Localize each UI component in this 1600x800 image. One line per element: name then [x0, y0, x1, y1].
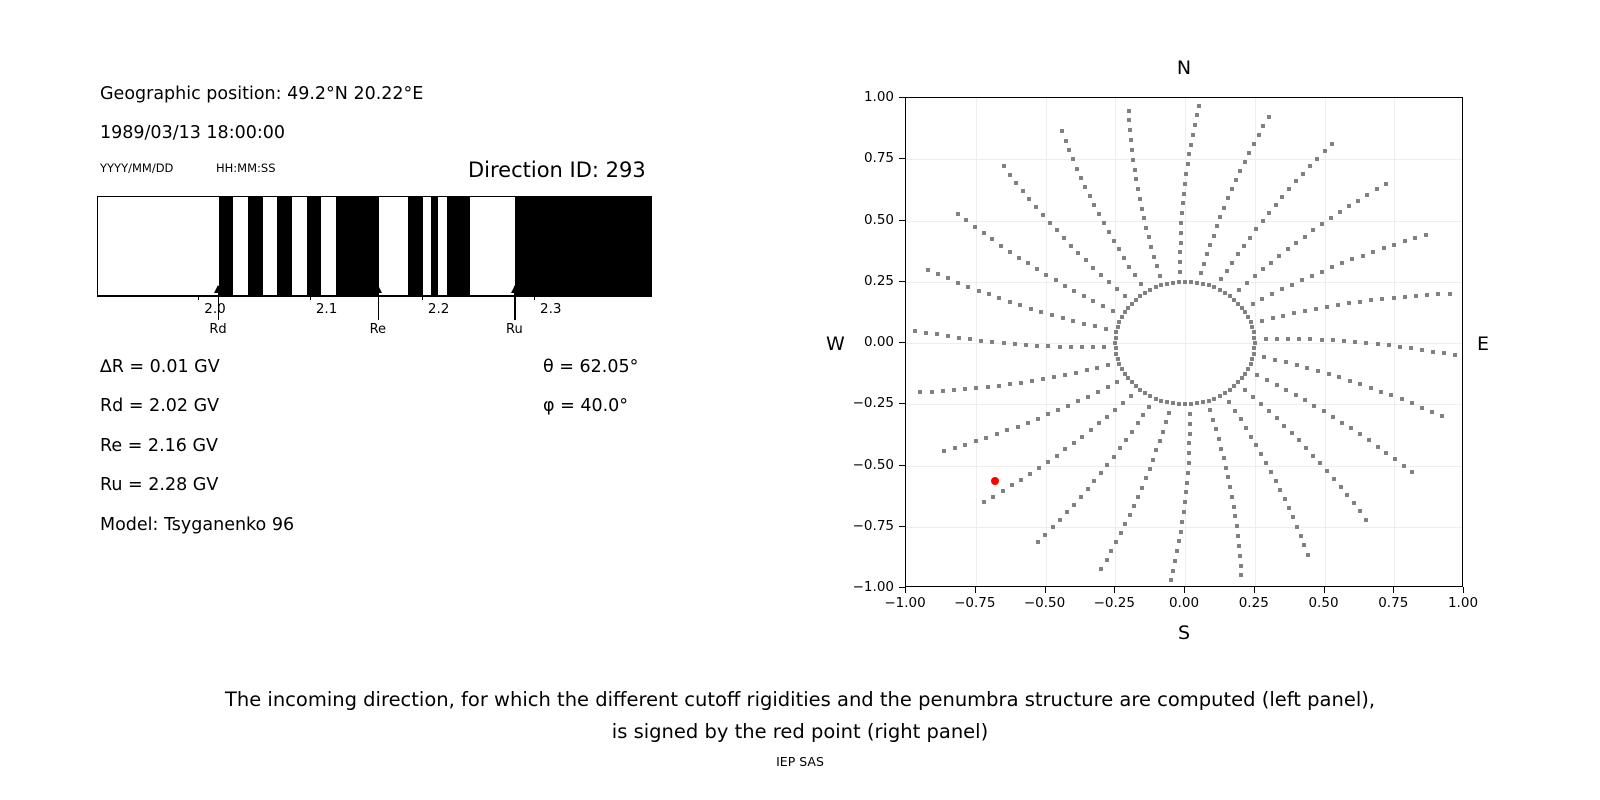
y-axis-tick [899, 281, 905, 282]
direction-point [1144, 476, 1148, 480]
rigidity-marker-label: Re [370, 322, 386, 337]
direction-point [1384, 451, 1388, 455]
direction-point [1448, 292, 1452, 296]
direction-point [1183, 182, 1187, 186]
direction-point [995, 432, 999, 436]
direction-point [1034, 205, 1038, 209]
direction-point [1255, 373, 1259, 377]
direction-point [1352, 501, 1356, 505]
direction-point [1403, 295, 1407, 299]
rigidity-marker-label: Rd [209, 322, 226, 337]
time-format-hint: HH:MM:SS [216, 161, 276, 175]
direction-point [1252, 346, 1256, 350]
direction-point [1041, 213, 1045, 217]
direction-point [1301, 172, 1305, 176]
direction-point [1226, 196, 1230, 200]
direction-point [1356, 199, 1360, 203]
direction-point [1274, 203, 1278, 207]
direction-point [1188, 422, 1192, 426]
direction-point [1123, 294, 1127, 298]
direction-point [1199, 271, 1203, 275]
direction-point [1181, 201, 1185, 205]
direction-point [1126, 376, 1130, 380]
penumbra-band [408, 197, 423, 295]
direction-point [1282, 424, 1286, 428]
direction-point [1304, 446, 1308, 450]
y-axis-tick [899, 158, 905, 159]
penumbra-structure-bar [97, 196, 652, 296]
gridline-vertical [976, 98, 977, 586]
direction-point [1299, 534, 1303, 538]
direction-point [1369, 386, 1373, 390]
direction-point [1338, 210, 1342, 214]
direction-point [1178, 250, 1182, 254]
direction-point [913, 329, 917, 333]
direction-point [1244, 426, 1248, 430]
direction-point [1280, 195, 1284, 199]
direction-point [1083, 185, 1087, 189]
direction-point [1306, 553, 1310, 557]
direction-point [935, 332, 939, 336]
direction-point [1217, 437, 1221, 441]
direction-point [1107, 280, 1111, 284]
direction-point [1303, 309, 1307, 313]
direction-point [1069, 345, 1073, 349]
figure-caption: The incoming direction, for which the di… [0, 684, 1600, 748]
direction-point [1392, 243, 1396, 247]
direction-point [1111, 309, 1115, 313]
direction-point [1278, 488, 1282, 492]
direction-point [1043, 533, 1047, 537]
direction-point [1207, 399, 1211, 403]
direction-point [1329, 216, 1333, 220]
direction-point [1127, 265, 1131, 269]
direction-point [1371, 250, 1375, 254]
direction-point [1123, 372, 1127, 376]
direction-point [1410, 470, 1414, 474]
direction-point [1183, 500, 1187, 504]
direction-point [1187, 152, 1191, 156]
direction-point [1118, 446, 1122, 450]
direction-point [1154, 397, 1158, 401]
x-axis-tick [905, 587, 906, 593]
direction-point [1235, 524, 1239, 528]
direction-point [1252, 336, 1256, 340]
penumbra-axis-tick-label: 2.3 [540, 301, 561, 317]
direction-point [1280, 287, 1284, 291]
x-axis-tick-label: −1.00 [884, 595, 925, 611]
direction-point [1071, 157, 1075, 161]
gridline-horizontal [906, 159, 1462, 160]
direction-point [1089, 428, 1093, 432]
direction-point [1228, 294, 1232, 298]
direction-map-panel: N S W E −1.00−0.75−0.50−0.250.000.250.50… [800, 0, 1600, 660]
direction-point [1092, 203, 1096, 207]
direction-point [1142, 216, 1146, 220]
direction-point [1091, 345, 1095, 349]
gridline-horizontal [906, 221, 1462, 222]
direction-point [1035, 344, 1039, 348]
direction-point [1347, 301, 1351, 305]
x-axis-tick-label: 0.75 [1378, 595, 1408, 611]
direction-point [1305, 366, 1309, 370]
direction-point [986, 385, 990, 389]
direction-point [1058, 345, 1062, 349]
direction-point [982, 231, 986, 235]
direction-point [1287, 187, 1291, 191]
direction-point [1238, 169, 1242, 173]
direction-point [1075, 167, 1079, 171]
direction-point [1290, 283, 1294, 287]
direction-point [1237, 544, 1241, 548]
penumbra-band [277, 197, 291, 295]
direction-point [1107, 230, 1111, 234]
direction-point [1187, 441, 1191, 445]
figure-footer: IEP SAS [0, 754, 1600, 769]
direction-point [1364, 518, 1368, 522]
direction-point [1330, 265, 1334, 269]
y-axis-tick [899, 220, 905, 221]
direction-point [1136, 495, 1140, 499]
direction-point [1099, 471, 1103, 475]
direction-point [1061, 316, 1065, 320]
selected-direction-point[interactable] [991, 477, 999, 485]
direction-point [1222, 206, 1226, 210]
direction-point [1056, 408, 1060, 412]
direction-point [1082, 322, 1086, 326]
direction-point [1294, 241, 1298, 245]
direction-point [1136, 187, 1140, 191]
direction-point [1358, 382, 1362, 386]
direction-point [1264, 337, 1268, 341]
direction-point [1064, 139, 1068, 143]
direction-point [1177, 402, 1181, 406]
direction-point [1171, 281, 1175, 285]
direction-point [1130, 380, 1134, 384]
direction-point [1274, 479, 1278, 483]
direction-point [1130, 302, 1134, 306]
direction-point [1331, 338, 1335, 342]
direction-point [1127, 109, 1131, 113]
direction-point [1186, 162, 1190, 166]
direction-point [1161, 430, 1165, 434]
direction-point [1400, 397, 1404, 401]
direction-point [1430, 410, 1434, 414]
penumbra-panel: Geographic position: 49.2°N 20.22°E 1989… [0, 0, 800, 660]
scatter-plot-area [905, 97, 1463, 587]
arrow-head-icon [214, 285, 222, 293]
direction-point [942, 449, 946, 453]
direction-point [1243, 388, 1247, 392]
direction-point [1252, 142, 1256, 146]
direction-point [1134, 384, 1138, 388]
direction-point [1067, 148, 1071, 152]
direction-point [1063, 447, 1067, 451]
y-axis-tick-label: 0.25 [864, 273, 894, 289]
direction-point [1105, 463, 1109, 467]
direction-point [1082, 294, 1086, 298]
direction-point [1117, 362, 1121, 366]
direction-point [1292, 311, 1296, 315]
direction-point [1250, 357, 1254, 361]
direction-point [1230, 187, 1234, 191]
direction-point [1180, 211, 1184, 215]
direction-point [1195, 401, 1199, 405]
direction-point [1233, 409, 1237, 413]
direction-point [1267, 409, 1271, 413]
direction-point [1158, 274, 1162, 278]
direction-point [946, 334, 950, 338]
penumbra-axis-tick-label: 2.1 [316, 301, 337, 317]
direction-point [1223, 391, 1227, 395]
direction-point [1402, 464, 1406, 468]
direction-point [1350, 257, 1354, 261]
penumbra-band [307, 197, 321, 295]
direction-point [1239, 417, 1243, 421]
x-axis-tick [1114, 587, 1115, 593]
direction-point [1140, 207, 1144, 211]
arrow-up-icon [514, 286, 515, 320]
y-axis-tick-label: 0.75 [864, 150, 894, 166]
direction-point [1154, 448, 1158, 452]
gridline-vertical [1325, 98, 1326, 586]
arrow-up-icon [378, 286, 379, 320]
direction-point [1243, 310, 1247, 314]
direction-point [987, 292, 991, 296]
y-axis-tick-label: −0.75 [853, 518, 894, 534]
direction-point [1010, 483, 1014, 487]
direction-point [1151, 458, 1155, 462]
y-axis-tick-label: 0.50 [864, 212, 894, 228]
direction-point [1253, 341, 1257, 345]
direction-point [1105, 415, 1109, 419]
direction-point [1254, 227, 1258, 231]
direction-point [1148, 394, 1152, 398]
direction-point [1337, 375, 1341, 379]
direction-point [997, 296, 1001, 300]
direction-point [1147, 235, 1151, 239]
compass-label-south: S [1178, 622, 1190, 644]
parameter-line: Rd = 2.02 GV [100, 396, 219, 416]
direction-point [1340, 261, 1344, 265]
direction-point [1224, 466, 1228, 470]
direction-point [1300, 278, 1304, 282]
direction-point [1270, 292, 1274, 296]
direction-point [1120, 367, 1124, 371]
direction-point [1249, 320, 1253, 324]
direction-point [1410, 401, 1414, 405]
x-axis-tick [1184, 587, 1185, 593]
direction-point [1143, 291, 1147, 295]
direction-point [1273, 358, 1277, 362]
direction-point [1072, 441, 1076, 445]
direction-point [1348, 379, 1352, 383]
direction-point [1284, 360, 1288, 364]
direction-point [1096, 390, 1100, 394]
direction-point [1133, 273, 1137, 277]
direction-point [952, 388, 956, 392]
direction-point [1008, 250, 1012, 254]
x-axis-tick [1254, 587, 1255, 593]
direction-id-label: Direction ID: 293 [468, 158, 646, 182]
y-axis-tick-label: 0.00 [864, 334, 894, 350]
direction-point [1021, 189, 1025, 193]
direction-point [1138, 197, 1142, 201]
rigidity-marker-label: Ru [506, 322, 523, 337]
direction-point [957, 336, 961, 340]
direction-point [1242, 244, 1246, 248]
direction-point [1013, 342, 1017, 346]
direction-point [1187, 451, 1191, 455]
direction-point [1155, 264, 1159, 268]
direction-point [1164, 420, 1168, 424]
direction-point [1252, 352, 1256, 356]
x-axis-tick [975, 587, 976, 593]
direction-point [930, 390, 934, 394]
direction-point [1251, 395, 1255, 399]
direction-point [1026, 421, 1030, 425]
direction-point [1442, 351, 1446, 355]
direction-point [1117, 247, 1121, 251]
direction-point [1201, 400, 1205, 404]
x-axis-tick-label: −0.50 [1024, 595, 1065, 611]
direction-point [963, 387, 967, 391]
direction-point [1120, 315, 1124, 319]
geographic-position-label: Geographic position: 49.2°N 20.22°E [100, 84, 423, 104]
direction-point [1138, 388, 1142, 392]
direction-point [1409, 346, 1413, 350]
direction-point [1369, 298, 1373, 302]
direction-point [1322, 409, 1326, 413]
penumbra-axis-tick [534, 296, 535, 300]
x-axis-tick [1463, 587, 1464, 593]
direction-point [1088, 194, 1092, 198]
y-axis-tick-label: −0.25 [853, 395, 894, 411]
compass-label-east: E [1477, 333, 1489, 355]
direction-point [1214, 427, 1218, 431]
direction-point [1101, 304, 1105, 308]
direction-point [1132, 504, 1136, 508]
gridline-vertical [1046, 98, 1047, 586]
direction-point [1239, 564, 1243, 568]
direction-point [1123, 522, 1127, 526]
direction-point [1171, 569, 1175, 573]
direction-point [1149, 245, 1153, 249]
direction-point [1233, 514, 1237, 518]
direction-point [1179, 241, 1183, 245]
direction-point [1002, 164, 1006, 168]
direction-point [1287, 506, 1291, 510]
direction-point [1183, 280, 1187, 284]
direction-point [1019, 478, 1023, 482]
direction-point [1019, 381, 1023, 385]
direction-point [963, 443, 967, 447]
direction-point [982, 500, 986, 504]
direction-point [1219, 447, 1223, 451]
direction-point [1230, 261, 1234, 265]
direction-point [1290, 431, 1294, 435]
direction-point [1154, 285, 1158, 289]
direction-point [1281, 314, 1285, 318]
direction-point [1218, 394, 1222, 398]
direction-point [1140, 486, 1144, 490]
direction-point [1187, 461, 1191, 465]
penumbra-band [447, 197, 470, 295]
direction-point [1178, 270, 1182, 274]
direction-point [1085, 368, 1089, 372]
penumbra-band [219, 197, 233, 295]
direction-point [1169, 578, 1173, 582]
direction-point [997, 384, 1001, 388]
direction-point [1358, 432, 1362, 436]
direction-point [1099, 273, 1103, 277]
direction-point [1205, 252, 1209, 256]
direction-point [1050, 313, 1054, 317]
direction-point [1128, 128, 1132, 132]
direction-point [1182, 192, 1186, 196]
direction-point [1277, 254, 1281, 258]
direction-point [1264, 461, 1268, 465]
direction-point [1367, 438, 1371, 442]
direction-point [1227, 400, 1231, 404]
direction-point [1159, 399, 1163, 403]
direction-point [1189, 143, 1193, 147]
direction-point [1320, 338, 1324, 342]
direction-point [946, 276, 950, 280]
direction-point [1420, 406, 1424, 410]
direction-point [1247, 151, 1251, 155]
direction-point [1379, 390, 1383, 394]
penumbra-band [515, 197, 652, 295]
direction-point [1252, 330, 1256, 334]
direction-point [1063, 373, 1067, 377]
x-axis-tick-label: 0.00 [1169, 595, 1199, 611]
direction-point [1284, 388, 1288, 392]
direction-point [1159, 283, 1163, 287]
direction-point [1382, 246, 1386, 250]
direction-point [1165, 400, 1169, 404]
direction-point [999, 244, 1003, 248]
direction-point [1261, 219, 1265, 223]
direction-point [1074, 371, 1078, 375]
direction-point [1055, 454, 1059, 458]
direction-point [1353, 340, 1357, 344]
direction-point [1225, 269, 1229, 273]
direction-point [1191, 133, 1195, 137]
direction-point [1347, 204, 1351, 208]
y-axis-tick [899, 97, 905, 98]
direction-point [1177, 280, 1181, 284]
direction-point [1250, 325, 1254, 329]
direction-point [1115, 380, 1119, 384]
direction-point [956, 212, 960, 216]
direction-point [1414, 294, 1418, 298]
direction-point [1184, 172, 1188, 176]
direction-point [1182, 510, 1186, 514]
direction-point [1340, 421, 1344, 425]
direction-point [1361, 254, 1365, 258]
direction-point [1112, 455, 1116, 459]
direction-point [1212, 285, 1216, 289]
direction-point [1314, 307, 1318, 311]
direction-point [1243, 160, 1247, 164]
direction-point [1148, 288, 1152, 292]
parameter-line: θ = 62.05° [543, 357, 638, 377]
direction-point [1297, 337, 1301, 341]
direction-point [1246, 315, 1250, 319]
direction-point [1327, 372, 1331, 376]
direction-point [1138, 294, 1142, 298]
